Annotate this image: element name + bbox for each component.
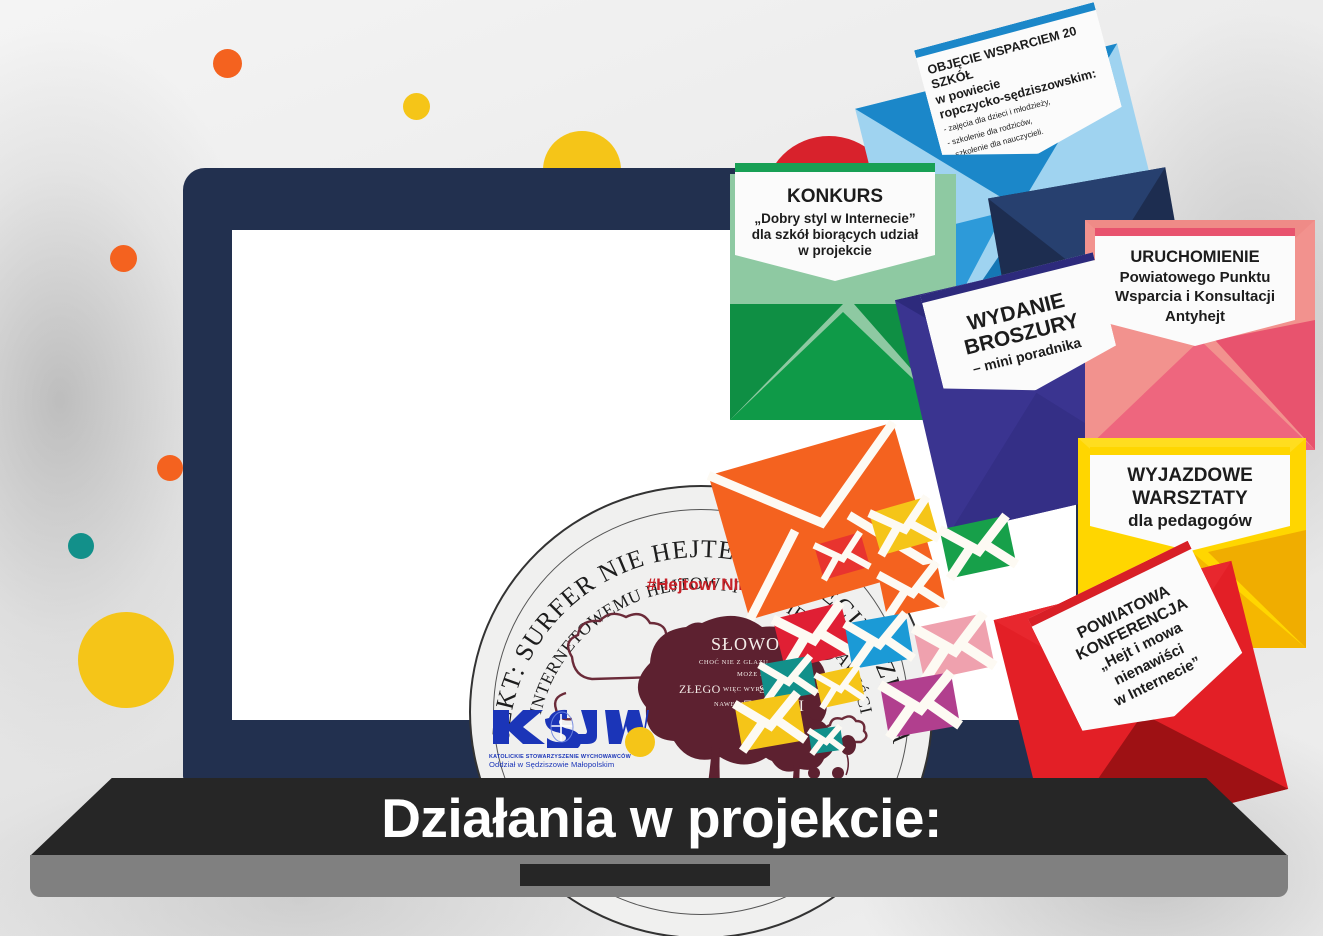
- konkurs-body-3: w projekcie: [798, 243, 872, 259]
- decor-dot: [157, 455, 183, 481]
- uruchomienie-heading: URUCHOMIENIE: [1130, 248, 1259, 268]
- wyjazdowe-heading-1: WYJAZDOWE: [1127, 464, 1253, 487]
- mini-envelope: [808, 660, 872, 714]
- laptop-trackpad: [520, 864, 770, 886]
- decor-dot: [403, 93, 430, 120]
- mini-envelope: [864, 494, 944, 558]
- wyjazdowe-body-1: dla pedagogów: [1128, 511, 1252, 531]
- poster-title: Działania w projekcie:: [0, 786, 1323, 850]
- poster-canvas: PROJEKT: SURFER NIE HEJTER - PRZECIWDZIA…: [0, 0, 1323, 936]
- konkurs-body-2: dla szkół biorących udział: [752, 227, 919, 243]
- decor-dot: [68, 533, 94, 559]
- ksw-logo-sub2: Oddział w Sędziszowie Małopolskim: [489, 760, 649, 769]
- wyjazdowe-heading-2: WARSZTATY: [1132, 487, 1247, 510]
- uruchomienie-body-1: Powiatowego Punktu: [1120, 268, 1271, 288]
- uruchomienie-body-2: Wsparcia i Konsultacji: [1115, 287, 1275, 307]
- decor-dot: [213, 49, 242, 78]
- mini-envelope: [800, 718, 852, 762]
- uruchomienie-body-3: Antyhejt: [1165, 307, 1225, 327]
- decor-dot: [78, 612, 174, 708]
- decor-dot: [110, 245, 137, 272]
- konkurs-heading: KONKURS: [787, 186, 883, 209]
- mini-envelope: [874, 668, 966, 742]
- konkurs-body-1: „Dobry styl w Internecie”: [754, 211, 915, 227]
- decor-dot: [625, 727, 655, 757]
